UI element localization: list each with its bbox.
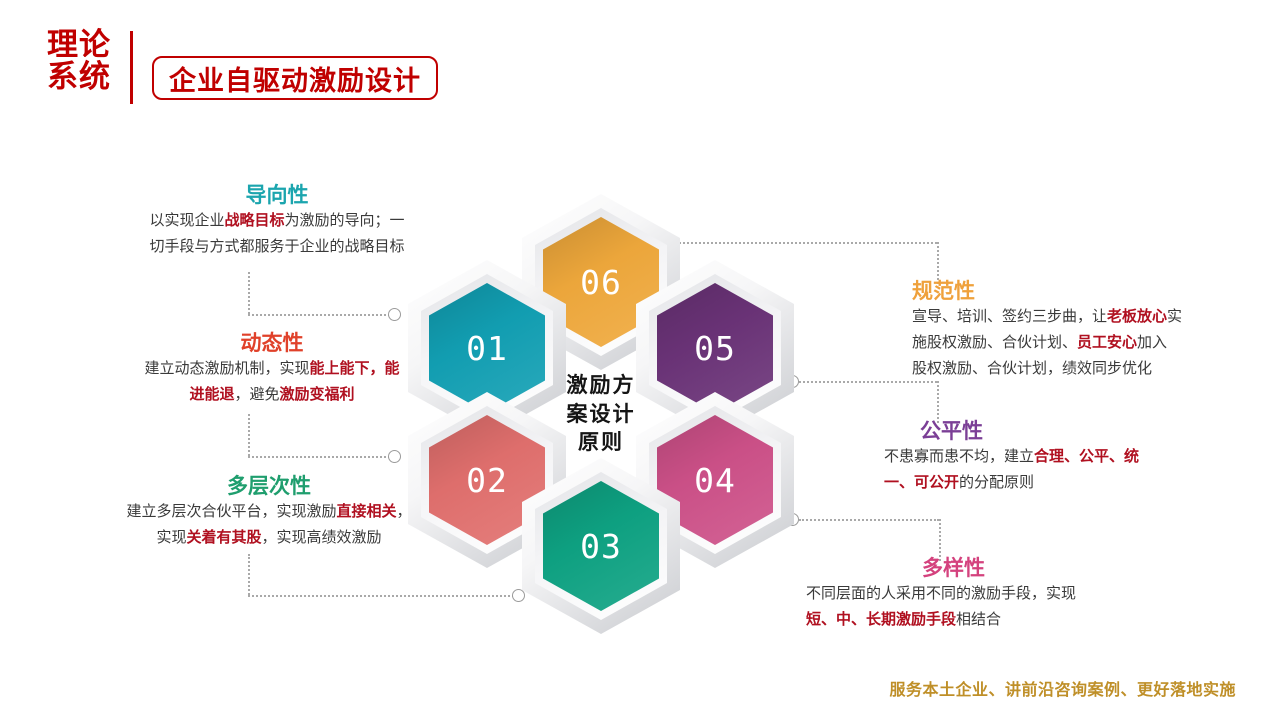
- note-emphasis: 合理、公平、统: [1034, 447, 1139, 465]
- note-text: 以实现企业: [149, 211, 224, 229]
- connector-line-3-vertical: [248, 554, 250, 595]
- note-body-line: 一、可公开的分配原则: [884, 470, 1280, 496]
- note-body-line: 进能退，避免激励变福利: [98, 382, 446, 408]
- footer-text: 服务本土企业、讲前沿咨询案例、更好落地实施: [889, 680, 1236, 699]
- note-emphasis: 老板放心: [1107, 307, 1167, 325]
- note-text: 相结合: [956, 610, 1001, 628]
- note-body-line: 切手段与方式都服务于企业的战略目标: [108, 234, 446, 260]
- brand-mark: 理论 系统: [36, 30, 122, 93]
- note-body-daoxiangxing: 以实现企业战略目标为激励的导向；一切手段与方式都服务于企业的战略目标: [108, 208, 446, 260]
- note-body-line: 以实现企业战略目标为激励的导向；一: [108, 208, 446, 234]
- note-emphasis: 激励变福利: [280, 385, 355, 403]
- note-title-guifanxing: 规范性: [912, 278, 1280, 304]
- note-emphasis: 员工安心: [1077, 333, 1137, 351]
- note-text: 股权激励、合伙计划，绩效同步优化: [912, 359, 1152, 377]
- note-body-dongtaixing: 建立动态激励机制，实现能上能下，能进能退，避免激励变福利: [98, 356, 446, 408]
- note-body-line: 宣导、培训、签约三步曲，让老板放心实: [912, 304, 1280, 330]
- note-text: 加入: [1137, 333, 1167, 351]
- note-emphasis: 进能退: [189, 385, 234, 403]
- center-label-line-2: 案设计: [567, 401, 636, 426]
- note-title-daoxiangxing: 导向性: [108, 182, 446, 208]
- hexagon-02-number: 02: [466, 461, 508, 500]
- slide-title-box: 企业自驱动激励设计: [152, 56, 438, 100]
- note-text: 切手段与方式都服务于企业的战略目标: [149, 237, 404, 255]
- note-body-duocengcixing: 建立多层次合伙平台，实现激励直接相关，实现关着有其股，实现高绩效激励: [92, 499, 446, 551]
- note-duoyangxing: 多样性 不同层面的人采用不同的激励手段，实现短、中、长期激励手段相结合: [912, 555, 1280, 633]
- note-text: 不同层面的人采用不同的激励手段，实现: [806, 584, 1076, 602]
- hexagon-diagram: 06 01 05 02 04 03: [398, 188, 818, 618]
- note-text: 施股权激励、合伙计划、: [912, 333, 1077, 351]
- connector-line-2-horizontal: [248, 456, 390, 458]
- slide-footer: 服务本土企业、讲前沿咨询案例、更好落地实施: [0, 676, 1280, 700]
- note-duocengcixing: 多层次性 建立多层次合伙平台，实现激励直接相关，实现关着有其股，实现高绩效激励: [92, 473, 446, 551]
- note-emphasis: 一、可公开: [884, 473, 959, 491]
- hexagon-06-number: 06: [580, 263, 622, 302]
- note-guifanxing: 规范性 宣导、培训、签约三步曲，让老板放心实施股权激励、合伙计划、员工安心加入股…: [912, 278, 1280, 382]
- note-text: ，避免: [234, 385, 279, 403]
- note-text: 建立动态激励机制，实现: [144, 359, 309, 377]
- note-dongtaixing: 动态性 建立动态激励机制，实现能上能下，能进能退，避免激励变福利: [98, 330, 446, 408]
- hexagon-05-number: 05: [694, 329, 736, 368]
- note-text: 为激励的导向；一: [285, 211, 405, 229]
- note-text: ，实现高绩效激励: [262, 528, 382, 546]
- note-emphasis: 关着有其股: [186, 528, 261, 546]
- hexagon-04-number: 04: [694, 461, 736, 500]
- slide-header: 理论 系统 企业自驱动激励设计: [0, 0, 1280, 135]
- header-divider: [130, 31, 133, 104]
- center-label-line-1: 激励方: [567, 372, 636, 397]
- note-body-line: 实现关着有其股，实现高绩效激励: [92, 525, 446, 551]
- note-text: 建立多层次合伙平台，实现激励: [126, 502, 336, 520]
- note-emphasis: 直接相关: [336, 502, 396, 520]
- note-body-line: 建立动态激励机制，实现能上能下，能: [98, 356, 446, 382]
- connector-line-6-horizontal: [799, 519, 939, 521]
- hexagon-01-number: 01: [466, 329, 508, 368]
- hexagon-center: 激励方 案设计 原则: [522, 326, 680, 502]
- note-emphasis: 短、中、长期激励手段: [806, 610, 956, 628]
- connector-line-5-vertical: [937, 381, 939, 423]
- note-emphasis: 战略目标: [224, 211, 284, 229]
- note-body-line: 施股权激励、合伙计划、员工安心加入: [912, 330, 1280, 356]
- note-gongpingxing: 公平性 不患寡而患不均，建立合理、公平、统一、可公开的分配原则: [912, 418, 1280, 496]
- note-title-gongpingxing: 公平性: [912, 418, 1280, 444]
- note-body-guifanxing: 宣导、培训、签约三步曲，让老板放心实施股权激励、合伙计划、员工安心加入股权激励、…: [912, 304, 1280, 381]
- center-label-line-3: 原则: [578, 429, 624, 454]
- connector-line-1-vertical: [248, 272, 250, 314]
- note-body-line: 不患寡而患不均，建立合理、公平、统: [884, 444, 1280, 470]
- note-body-duoyangxing: 不同层面的人采用不同的激励手段，实现短、中、长期激励手段相结合: [806, 581, 1280, 633]
- note-text: 不患寡而患不均，建立: [884, 447, 1034, 465]
- brand-line-1: 理论: [36, 30, 122, 62]
- note-body-line: 建立多层次合伙平台，实现激励直接相关，: [92, 499, 446, 525]
- note-body-gongpingxing: 不患寡而患不均，建立合理、公平、统一、可公开的分配原则: [884, 444, 1280, 496]
- note-emphasis: 能上能下，能: [310, 359, 400, 377]
- note-text: 的分配原则: [959, 473, 1034, 491]
- note-title-duocengcixing: 多层次性: [92, 473, 446, 499]
- note-body-line: 股权激励、合伙计划，绩效同步优化: [912, 356, 1280, 382]
- note-title-duoyangxing: 多样性: [912, 555, 1280, 581]
- note-title-dongtaixing: 动态性: [98, 330, 446, 356]
- brand-line-2: 系统: [36, 62, 122, 94]
- note-text: 实: [1167, 307, 1182, 325]
- note-daoxiangxing: 导向性 以实现企业战略目标为激励的导向；一切手段与方式都服务于企业的战略目标: [108, 182, 446, 260]
- note-body-line: 不同层面的人采用不同的激励手段，实现: [806, 581, 1280, 607]
- page-title: 企业自驱动激励设计: [169, 59, 421, 98]
- connector-line-2-vertical: [248, 414, 250, 456]
- connector-line-1-horizontal: [248, 314, 390, 316]
- hexagon-center-label: 激励方 案设计 原则: [553, 371, 649, 458]
- note-text: 实现: [156, 528, 186, 546]
- hexagon-03-number: 03: [580, 527, 622, 566]
- note-text: 宣导、培训、签约三步曲，让: [912, 307, 1107, 325]
- note-body-line: 短、中、长期激励手段相结合: [806, 607, 1280, 633]
